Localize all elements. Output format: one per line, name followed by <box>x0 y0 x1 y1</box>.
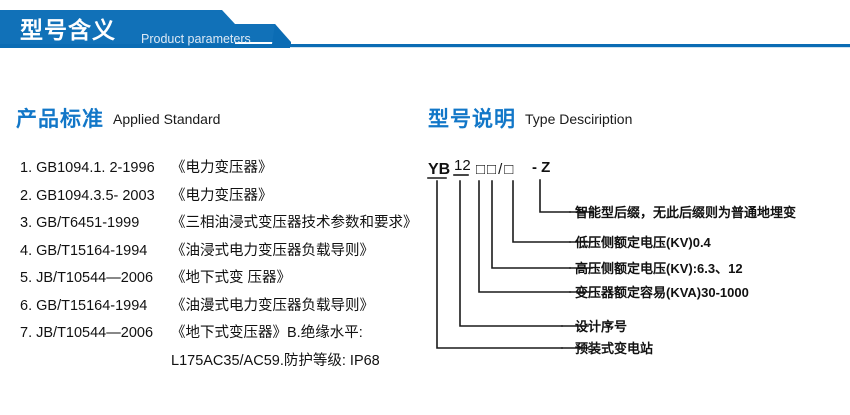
list-item: 1. GB1094.1. 2-1996 《电力变压器》 <box>20 155 440 183</box>
banner-title-cn: 型号含义 <box>20 16 116 44</box>
type-heading-cn: 型号说明 <box>428 108 516 131</box>
banner-step-shadow <box>272 24 291 44</box>
standard-code: 5. JB/T10544—2006 <box>20 265 171 293</box>
list-item: 4. GB/T15164-1994 《油浸式电力变压器负载导则》 <box>20 238 440 266</box>
standard-name: 《电力变压器》 <box>171 155 440 183</box>
standard-name: 《电力变压器》 <box>171 183 440 211</box>
type-code-diagram: YB 12 □□/□ - Z <box>420 150 850 365</box>
standard-code: 6. GB/T15164-1994 <box>20 293 171 321</box>
standard-code: 1. GB1094.1. 2-1996 <box>20 155 171 183</box>
standard-name: 《地下式变压器》B.绝缘水平: <box>171 320 440 348</box>
list-item: 7. JB/T10544—2006 《地下式变压器》B.绝缘水平: <box>20 320 440 348</box>
banner-title-en: Product parameters <box>141 32 251 46</box>
standard-name: 《三相油浸式变压器技术参数和要求》 <box>171 210 440 238</box>
list-item: 3. GB/T6451-1999 《三相油浸式变压器技术参数和要求》 <box>20 210 440 238</box>
standard-code: 7. JB/T10544—2006 <box>20 320 171 348</box>
standard-name: L175AC35/AC59.防护等级: IP68 <box>171 348 440 376</box>
leader-design <box>460 181 562 326</box>
leader-lines <box>420 150 850 365</box>
callout-label-smart-suffix: 智能型后缀，无此后缀则为普通地埋变 <box>575 205 796 220</box>
list-item-continuation: L175AC35/AC59.防护等级: IP68 <box>20 348 440 376</box>
standard-code: 4. GB/T15164-1994 <box>20 238 171 266</box>
type-heading: 型号说明Type Desciription <box>428 103 632 133</box>
standards-list: 1. GB1094.1. 2-1996 《电力变压器》 2. GB1094.3.… <box>20 155 440 375</box>
standard-name: 《油浸式电力变压器负载导则》 <box>171 238 440 266</box>
type-heading-en: Type Desciription <box>525 111 632 127</box>
list-item: 6. GB/T15164-1994 《油漫式电力变压器负载导则》 <box>20 293 440 321</box>
callout-label-hv-rating: 高压侧额定电压(KV):6.3、12 <box>575 261 743 276</box>
standards-heading-en: Applied Standard <box>113 111 220 127</box>
standard-code: 2. GB1094.3.5- 2003 <box>20 183 171 211</box>
leader-prefix <box>437 181 562 348</box>
leader-hv <box>492 181 570 268</box>
callout-label-lv-rating: 低压侧额定电压(KV)0.4 <box>575 235 711 250</box>
banner-shape <box>0 0 850 62</box>
standard-name: 《油漫式电力变压器负载导则》 <box>171 293 440 321</box>
callout-label-capacity: 变压器额定容易(KVA)30-1000 <box>575 285 749 300</box>
standards-heading-cn: 产品标准 <box>16 108 104 131</box>
list-item: 5. JB/T10544—2006 《地下式变 压器》 <box>20 265 440 293</box>
standard-name: 《地下式变 压器》 <box>171 265 440 293</box>
leader-suffix <box>540 180 570 212</box>
standard-code: 3. GB/T6451-1999 <box>20 210 171 238</box>
list-item: 2. GB1094.3.5- 2003 《电力变压器》 <box>20 183 440 211</box>
callout-label-substation: 预装式变电站 <box>575 341 653 356</box>
callout-label-design-serial: 设计序号 <box>575 319 627 334</box>
banner-rule <box>0 44 850 47</box>
standards-heading: 产品标准Applied Standard <box>16 103 220 133</box>
page-header-banner: 型号含义 Product parameters <box>0 0 850 62</box>
